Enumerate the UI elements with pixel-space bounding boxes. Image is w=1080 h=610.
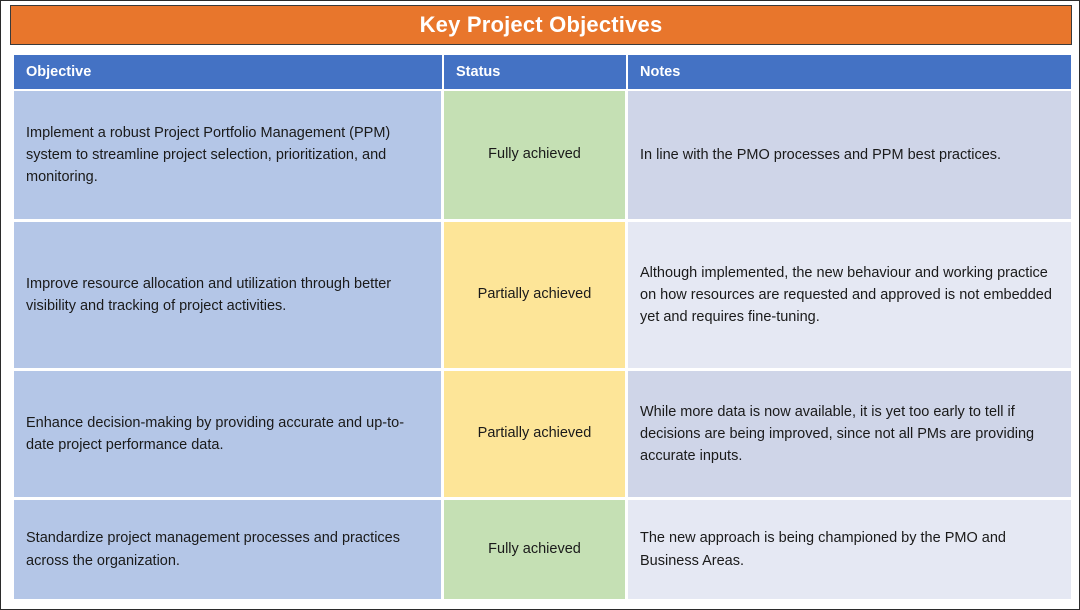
cell-notes: In line with the PMO processes and PPM b… bbox=[628, 91, 1071, 219]
status-badge: Partially achieved bbox=[444, 371, 628, 497]
table-row: Standardize project management processes… bbox=[14, 500, 1071, 599]
cell-notes: Although implemented, the new behaviour … bbox=[628, 222, 1071, 368]
column-header-objective: Objective bbox=[14, 55, 444, 89]
table-row: Enhance decision-making by providing acc… bbox=[14, 371, 1071, 497]
column-header-notes: Notes bbox=[628, 55, 1071, 89]
table-row: Improve resource allocation and utilizat… bbox=[14, 222, 1071, 368]
status-badge: Fully achieved bbox=[444, 500, 628, 599]
column-header-status: Status bbox=[444, 55, 628, 89]
page-title: Key Project Objectives bbox=[420, 14, 663, 36]
status-badge: Partially achieved bbox=[444, 222, 628, 368]
cell-objective: Standardize project management processes… bbox=[14, 500, 444, 599]
table-row: Implement a robust Project Portfolio Man… bbox=[14, 91, 1071, 219]
cell-notes: The new approach is being championed by … bbox=[628, 500, 1071, 599]
title-banner: Key Project Objectives bbox=[10, 5, 1072, 45]
status-badge: Fully achieved bbox=[444, 91, 628, 219]
table-header-row: Objective Status Notes bbox=[14, 55, 1071, 89]
cell-notes: While more data is now available, it is … bbox=[628, 371, 1071, 497]
cell-objective: Improve resource allocation and utilizat… bbox=[14, 222, 444, 368]
cell-objective: Implement a robust Project Portfolio Man… bbox=[14, 91, 444, 219]
objectives-table: Objective Status Notes Implement a robus… bbox=[14, 55, 1071, 602]
slide-canvas: Key Project Objectives Objective Status … bbox=[0, 0, 1080, 610]
cell-objective: Enhance decision-making by providing acc… bbox=[14, 371, 444, 497]
